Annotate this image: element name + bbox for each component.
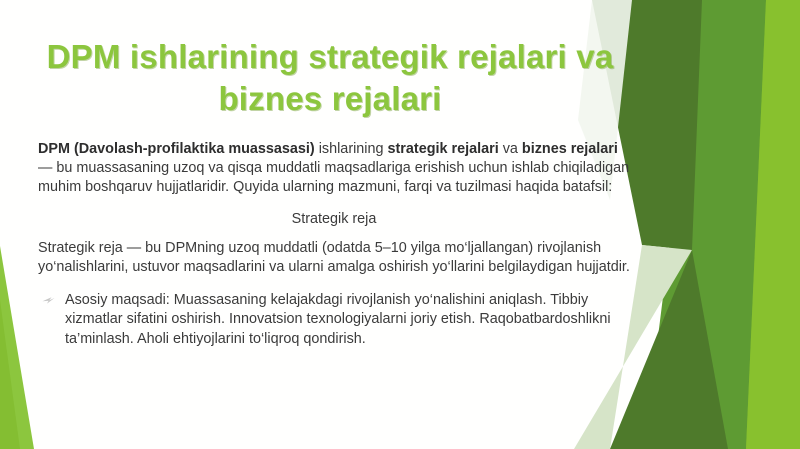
intro-bold-1: DPM (Davolash-profilaktika muassasasi) — [38, 141, 315, 157]
intro-bold-3: biznes rejalari — [522, 141, 618, 157]
list-item-label: Asosiy maqsadi: Muassasaning kelajakdagi… — [65, 292, 611, 347]
intro-text-2: va — [499, 141, 522, 157]
section-subheading: Strategik reja — [38, 210, 630, 229]
intro-paragraph: DPM (Davolash-profilaktika muassasasi) i… — [38, 140, 630, 197]
slide-title: DPM ishlarining strategik rejalari va bi… — [40, 36, 620, 120]
intro-bold-2: strategik rejalari — [388, 141, 499, 157]
arrow-bullet-icon — [42, 295, 55, 306]
slide-body: DPM (Davolash-profilaktika muassasasi) i… — [38, 140, 630, 349]
intro-text-1: ishlarining — [315, 141, 388, 157]
bullet-list: Asosiy maqsadi: Muassasaning kelajakdagi… — [38, 291, 630, 349]
strategic-plan-paragraph: Strategik reja — bu DPMning uzoq muddatl… — [38, 239, 630, 277]
presentation-slide: DPM ishlarining strategik rejalari va bi… — [0, 0, 800, 449]
list-item: Asosiy maqsadi: Muassasaning kelajakdagi… — [38, 291, 630, 349]
intro-text-3: — bu muassasaning uzoq va qisqa muddatli… — [38, 160, 629, 195]
